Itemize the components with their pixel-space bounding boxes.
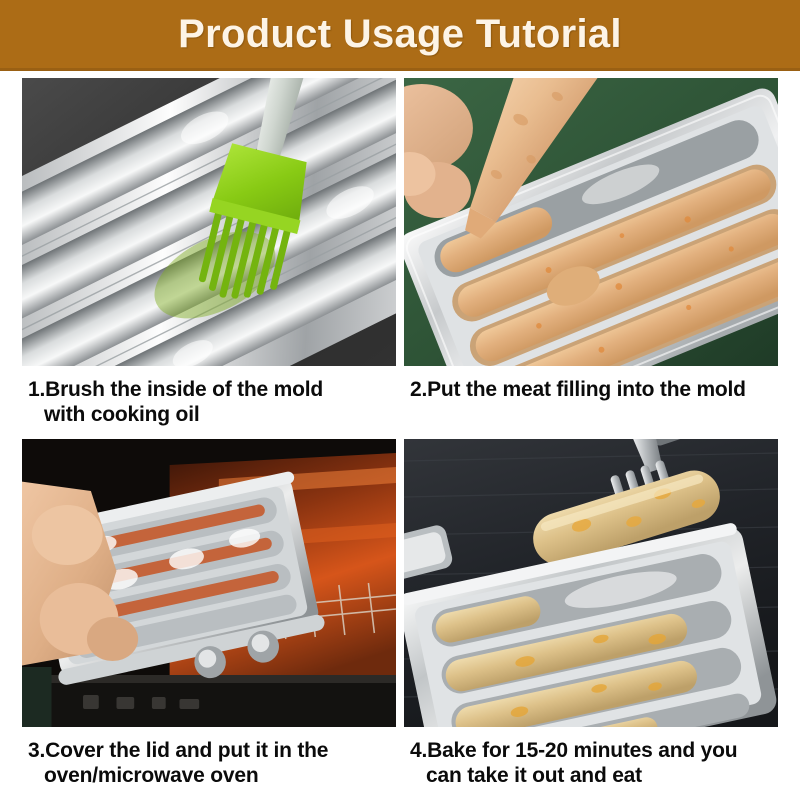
step-caption-3-line1: 3.Cover the lid and put it in the (28, 739, 328, 762)
page-title: Product Usage Tutorial (178, 14, 622, 54)
step-caption-4-line1: 4.Bake for 15-20 minutes and you (410, 739, 737, 762)
step-card-4: 4.Bake for 15-20 minutes and you can tak… (404, 439, 778, 800)
step-caption-4: 4.Bake for 15-20 minutes and you can tak… (404, 727, 778, 789)
step-caption-2-line1: 2.Put the meat filling into the mold (410, 378, 746, 401)
steps-grid: 1.Brush the inside of the mold with cook… (0, 71, 800, 800)
step-caption-3-line2: oven/microwave oven (28, 764, 394, 789)
step-image-3 (22, 439, 396, 727)
step-card-1: 1.Brush the inside of the mold with cook… (22, 78, 396, 439)
step-illustration-1 (22, 78, 396, 366)
step-caption-1-line2: with cooking oil (28, 403, 394, 428)
step-illustration-3 (22, 439, 396, 727)
tutorial-page: Product Usage Tutorial (0, 0, 800, 800)
step-caption-4-line2: can take it out and eat (410, 764, 776, 789)
page-header-banner: Product Usage Tutorial (0, 0, 800, 71)
step-caption-2: 2.Put the meat filling into the mold (404, 366, 778, 403)
step-caption-1: 1.Brush the inside of the mold with cook… (22, 366, 396, 428)
step-image-1 (22, 78, 396, 366)
step-card-2: 2.Put the meat filling into the mold (404, 78, 778, 439)
step-image-4 (404, 439, 778, 727)
step-illustration-4 (404, 439, 778, 727)
step-caption-1-line1: 1.Brush the inside of the mold (28, 378, 323, 401)
step-illustration-2 (404, 78, 778, 366)
step-image-2 (404, 78, 778, 366)
step-caption-3: 3.Cover the lid and put it in the oven/m… (22, 727, 396, 789)
step-card-3: 3.Cover the lid and put it in the oven/m… (22, 439, 396, 800)
